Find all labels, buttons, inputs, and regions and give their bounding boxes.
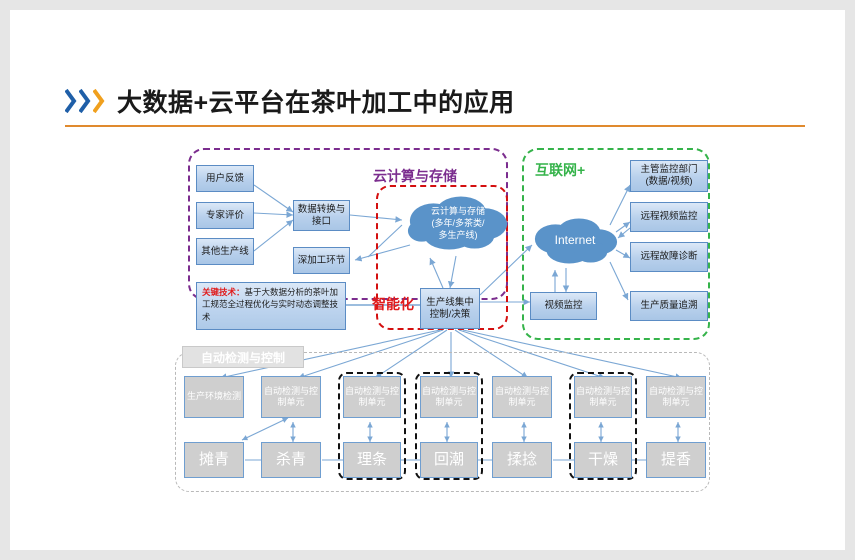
- unit-box-6[interactable]: 自动检测与控制单元: [646, 376, 706, 418]
- cloud-internet[interactable]: Internet: [530, 215, 620, 267]
- step-box-3[interactable]: 回潮: [420, 442, 478, 478]
- step-box-2[interactable]: 理条: [343, 442, 401, 478]
- box-key-technology[interactable]: 关键技术：基于大数据分析的茶叶加工规范全过程优化与实时动态调整技术: [196, 282, 346, 330]
- chevron-right-icon-3: [93, 88, 106, 114]
- box-line-central-control[interactable]: 生产线集中 控制/决策: [420, 288, 480, 329]
- cloud-computing-storage[interactable]: 云计算与存储 (多年/多茶类/ 多生产线): [404, 193, 512, 255]
- right-box-0-line1: 主管监控部门: [640, 164, 697, 176]
- page-title: 大数据+云平台在茶叶加工中的应用: [117, 83, 515, 119]
- unit-box-1[interactable]: 自动检测与控制单元: [261, 376, 321, 418]
- unit-box-4[interactable]: 自动检测与控制单元: [492, 376, 552, 418]
- region-label-intelligent: 智能化: [372, 294, 414, 314]
- step-box-6[interactable]: 提香: [646, 442, 706, 478]
- slide-canvas: 大数据+云平台在茶叶加工中的应用: [0, 0, 855, 560]
- box-supervisor-department[interactable]: 主管监控部门 (数据/视频): [630, 160, 708, 192]
- box-quality-traceability[interactable]: 生产质量追溯: [630, 291, 708, 321]
- control-line1: 生产线集中: [426, 297, 474, 309]
- step-box-1[interactable]: 杀青: [261, 442, 321, 478]
- unit-box-3[interactable]: 自动检测与控制单元: [420, 376, 478, 418]
- step-box-4[interactable]: 揉捻: [492, 442, 552, 478]
- unit-box-5[interactable]: 自动检测与控制单元: [574, 376, 632, 418]
- step-box-0[interactable]: 摊青: [184, 442, 244, 478]
- title-divider: [65, 125, 805, 127]
- box-remote-fault-diagnosis[interactable]: 远程故障诊断: [630, 242, 708, 272]
- unit-box-0[interactable]: 生产环境检测: [184, 376, 244, 418]
- unit-box-2[interactable]: 自动检测与控制单元: [343, 376, 401, 418]
- right-box-0-line2: (数据/视频): [646, 176, 693, 188]
- chevron-right-icon-2: [79, 88, 92, 114]
- box-expert-review[interactable]: 专家评价: [196, 202, 254, 229]
- auto-detect-header: 自动检测与控制: [182, 346, 304, 368]
- cloud-shape-icon: [404, 193, 512, 255]
- chevron-right-icon-1: [65, 88, 78, 114]
- box-remote-video-monitor[interactable]: 远程视频监控: [630, 202, 708, 232]
- step-box-5[interactable]: 干燥: [574, 442, 632, 478]
- region-label-internet-plus: 互联网+: [535, 160, 585, 180]
- page-title-row: 大数据+云平台在茶叶加工中的应用: [65, 78, 805, 124]
- box-video-monitor[interactable]: 视频监控: [530, 292, 597, 320]
- box-other-lines[interactable]: 其他生产线: [196, 238, 254, 265]
- region-label-cloud-storage: 云计算与存储: [373, 166, 457, 186]
- key-tech-prefix: 关键技术：: [202, 287, 245, 297]
- box-deep-processing[interactable]: 深加工环节: [293, 247, 350, 274]
- control-line2: 控制/决策: [430, 309, 471, 321]
- cloud-shape-icon: [530, 215, 620, 267]
- box-user-feedback[interactable]: 用户反馈: [196, 165, 254, 192]
- box-data-interface[interactable]: 数据转换与接口: [293, 200, 350, 231]
